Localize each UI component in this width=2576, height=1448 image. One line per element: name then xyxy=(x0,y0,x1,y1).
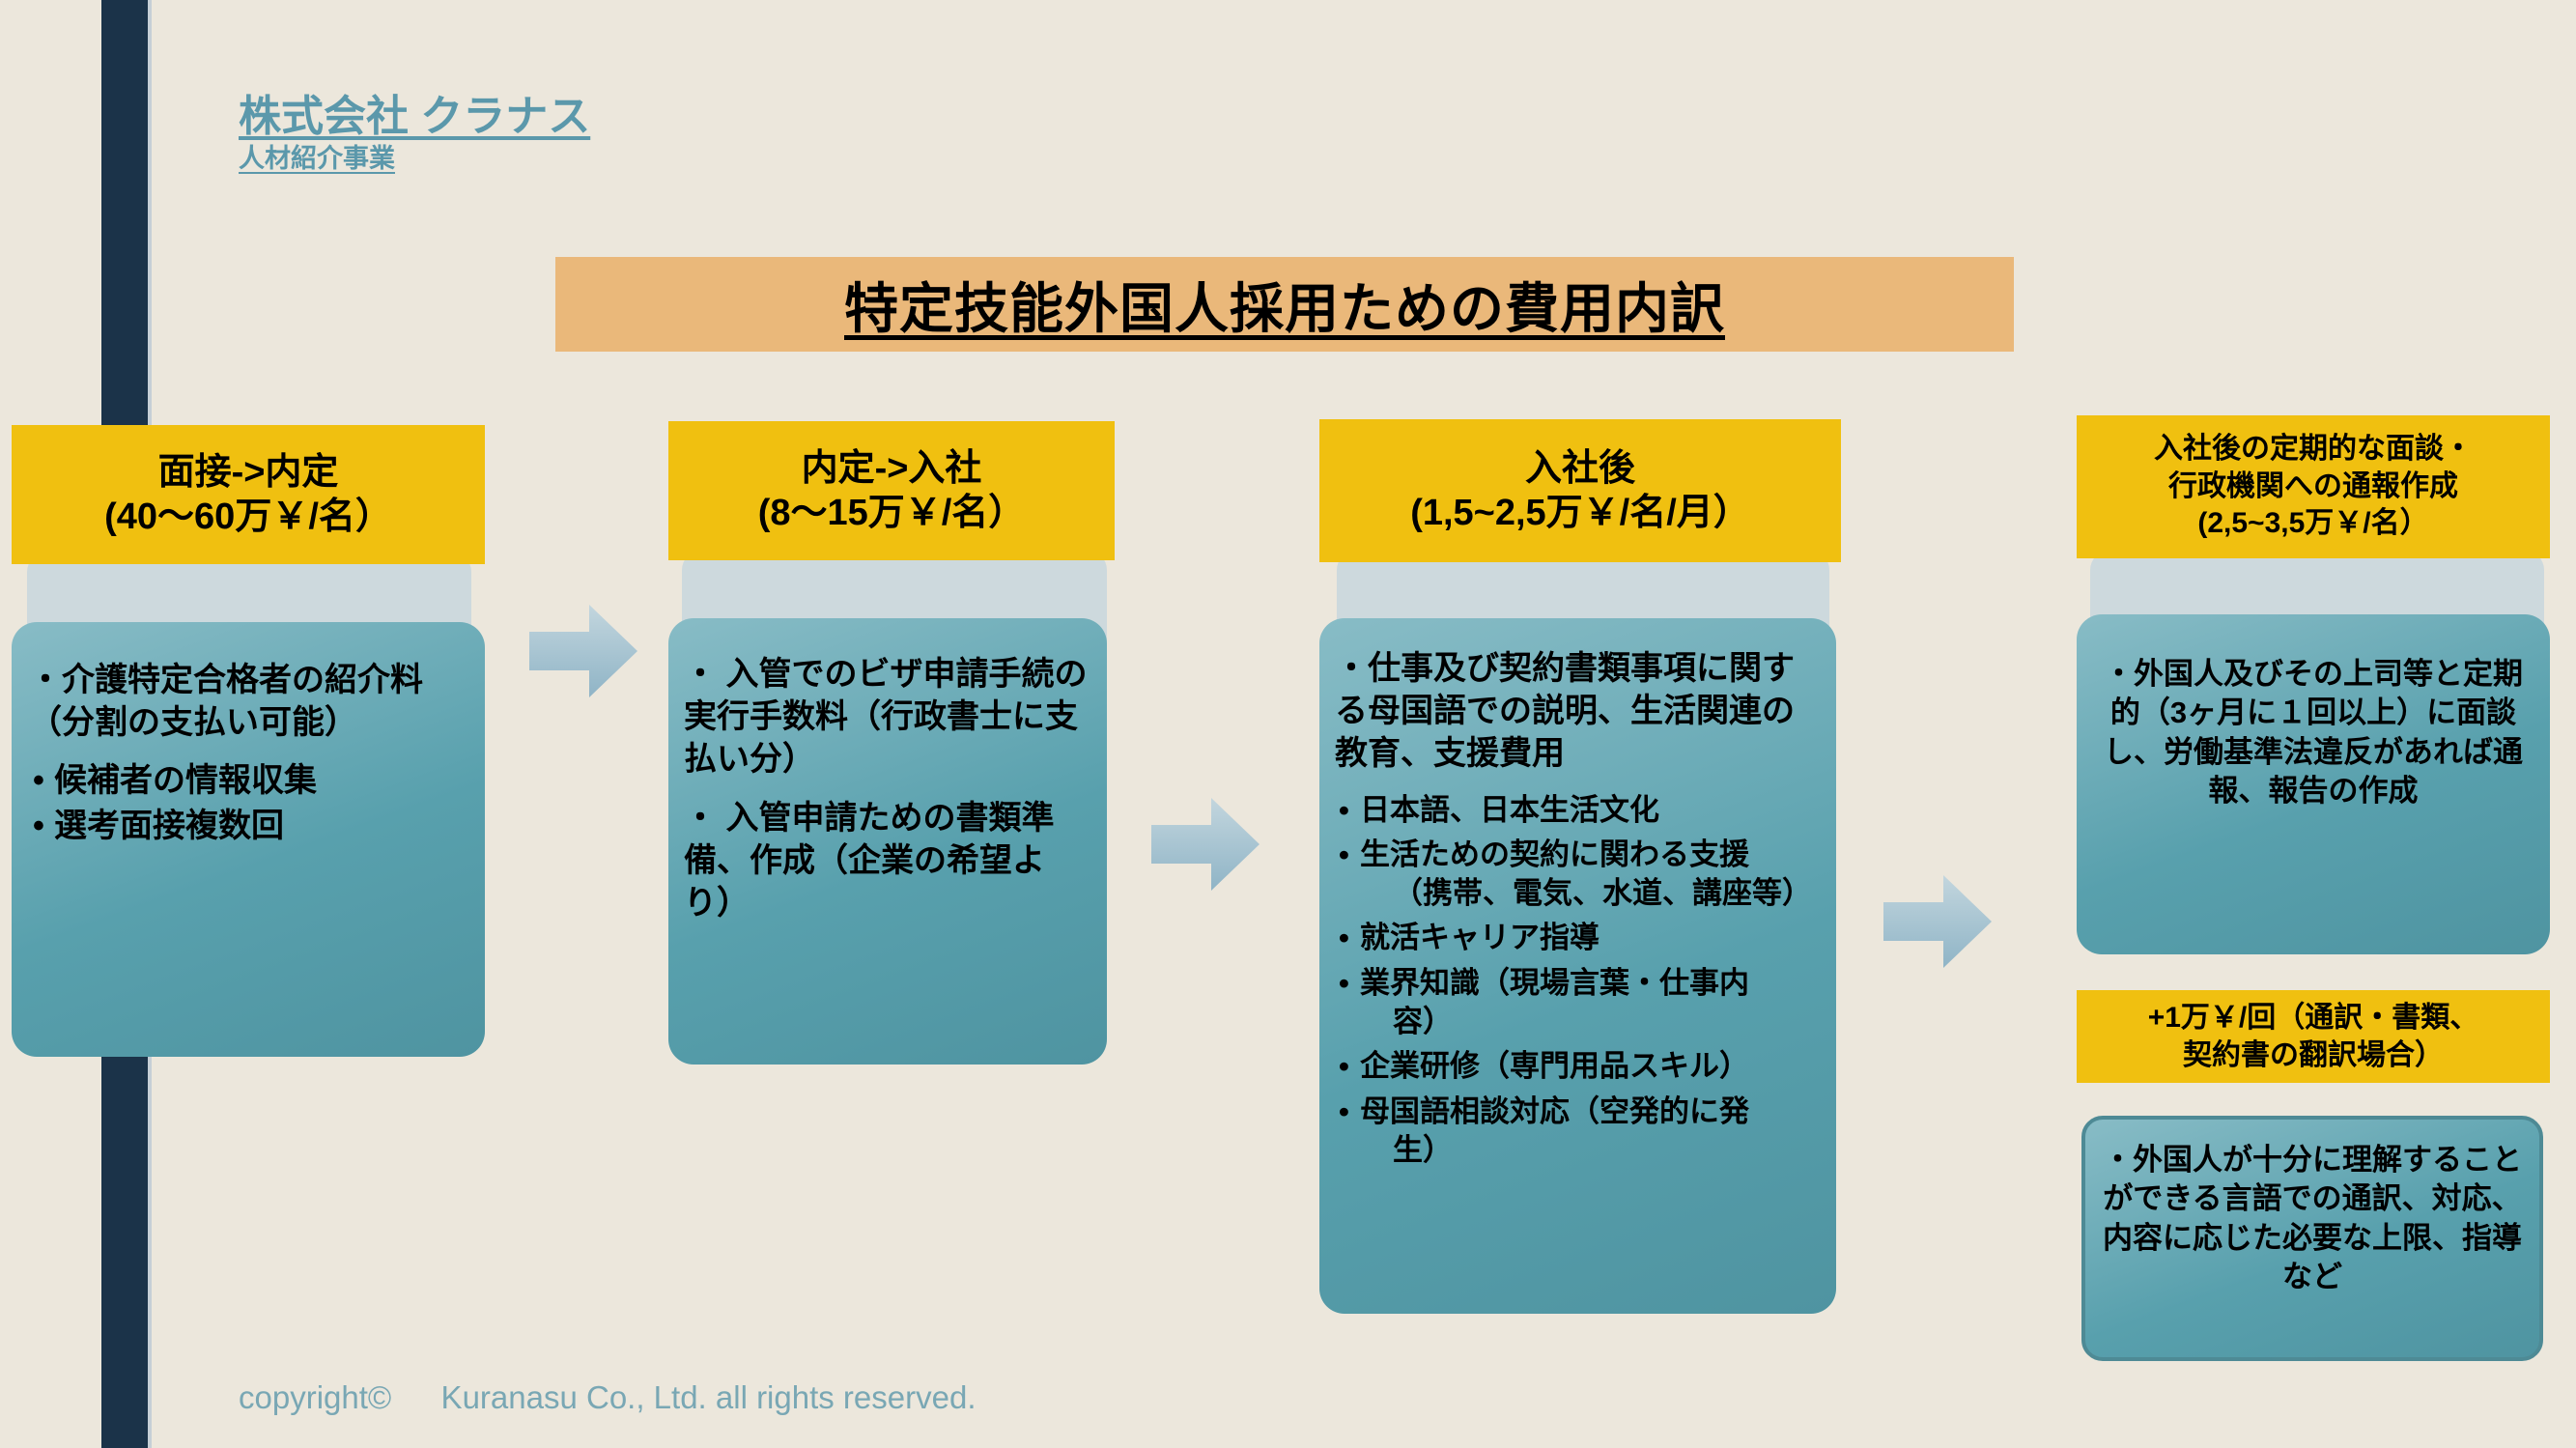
column-1-bullet-list: 候補者の情報収集 選考面接複数回 xyxy=(29,759,467,846)
flow-arrow-icon xyxy=(1883,869,1992,974)
column-4-header: 入社後の定期的な面談・ 行政機関への通報作成 (2,5~3,5万￥/名） xyxy=(2077,415,2550,558)
column-1-header: 面接->内定 (40〜60万￥/名） xyxy=(12,425,485,564)
column-2-paragraph-1: ・ 入管でのビザ申請手続の実行手数料（行政書士に支払い分） xyxy=(684,653,1091,781)
column-3-lead-text: ・仕事及び契約書類事項に関する母国語での説明、生活関連の教育、支援費用 xyxy=(1335,647,1821,776)
list-item: 生活ための契約に関わる支援 （携帯、電気、水道、講座等） xyxy=(1335,836,1821,914)
company-tagline: 人材紹介事業 xyxy=(239,143,590,174)
column-1-header-line1: 面接->内定 xyxy=(158,450,339,495)
column-4-body-text: ・外国人及びその上司等と定期的（3ヶ月に１回以上）に面談し、労働基準法違反があれ… xyxy=(2092,655,2534,810)
flow-arrow-icon xyxy=(1151,792,1260,896)
column-2-header: 内定->入社 (8〜15万￥/名） xyxy=(668,421,1115,560)
column-4-secondary-body-text: ・外国人が十分に理解することができる言語での通訳、対応、内容に応じた必要な上限、… xyxy=(2103,1141,2522,1296)
column-4-header-line1: 入社後の定期的な面談・ xyxy=(2154,431,2473,468)
column-4-secondary-body: ・外国人が十分に理解することができる言語での通訳、対応、内容に応じた必要な上限、… xyxy=(2081,1116,2543,1361)
list-item-main: 業界知識（現場言葉・仕事内 xyxy=(1360,966,1749,1000)
column-4-header-line2: 行政機関への通報作成 xyxy=(2168,468,2458,505)
column-3-header: 入社後 (1,5~2,5万￥/名/月） xyxy=(1319,419,1841,562)
title-band: 特定技能外国人採用ための費用内訳 xyxy=(555,257,2014,352)
list-item: 選考面接複数回 xyxy=(29,805,467,847)
column-3-bullet-list: 日本語、日本生活文化 生活ための契約に関わる支援 （携帯、電気、水道、講座等） … xyxy=(1335,791,1821,1171)
list-item-sub: 生） xyxy=(1360,1131,1821,1170)
column-2-body: ・ 入管でのビザ申請手続の実行手数料（行政書士に支払い分） ・ 入管申請ための書… xyxy=(668,618,1107,1065)
list-item-main: 日本語、日本生活文化 xyxy=(1360,793,1659,827)
column-1-lead-text: ・介護特定合格者の紹介料（分割の支払い可能） xyxy=(29,659,467,744)
list-item-main: 就活キャリア指導 xyxy=(1360,921,1599,954)
list-item: 候補者の情報収集 xyxy=(29,759,467,802)
page-title: 特定技能外国人採用ための費用内訳 xyxy=(844,266,1725,344)
column-2-header-line1: 内定->入社 xyxy=(802,446,982,491)
brand-block: 株式会社 クラナス 人材紹介事業 xyxy=(239,93,590,175)
list-item-main: 企業研修（専門用品スキル） xyxy=(1360,1049,1749,1083)
list-item: 日本語、日本生活文化 xyxy=(1335,791,1821,830)
column-2-header-line2: (8〜15万￥/名） xyxy=(758,491,1026,535)
column-1-body: ・介護特定合格者の紹介料（分割の支払い可能） 候補者の情報収集 選考面接複数回 xyxy=(12,622,485,1057)
column-3-header-line1: 入社後 xyxy=(1525,446,1635,491)
list-item: 企業研修（専門用品スキル） xyxy=(1335,1047,1821,1086)
column-4-secondary-header-line1: +1万￥/回（通訳・書類、 xyxy=(2148,999,2479,1036)
column-4-secondary-header: +1万￥/回（通訳・書類、 契約書の翻訳場合） xyxy=(2077,990,2550,1083)
flow-arrow-icon xyxy=(529,599,637,703)
column-4-header-line3: (2,5~3,5万￥/名） xyxy=(2197,505,2428,542)
list-item: 母国語相談対応（空発的に発 生） xyxy=(1335,1093,1821,1171)
column-1-header-line2: (40〜60万￥/名） xyxy=(104,495,392,539)
list-item: 就活キャリア指導 xyxy=(1335,919,1821,957)
list-item-main: 母国語相談対応（空発的に発 xyxy=(1360,1094,1749,1128)
list-item: 業界知識（現場言葉・仕事内 容） xyxy=(1335,964,1821,1042)
list-item-main: 生活ための契約に関わる支援 xyxy=(1360,838,1749,871)
company-name: 株式会社 クラナス xyxy=(239,93,590,140)
column-4-body: ・外国人及びその上司等と定期的（3ヶ月に１回以上）に面談し、労働基準法違反があれ… xyxy=(2077,614,2550,954)
column-2-paragraph-2: ・ 入管申請ための書類準備、作成（企業の希望より） xyxy=(684,797,1091,925)
column-3-header-line2: (1,5~2,5万￥/名/月） xyxy=(1410,491,1750,535)
column-3-body: ・仕事及び契約書類事項に関する母国語での説明、生活関連の教育、支援費用 日本語、… xyxy=(1319,618,1836,1314)
list-item-sub: 容） xyxy=(1360,1003,1821,1041)
column-4-secondary-header-line2: 契約書の翻訳場合） xyxy=(2183,1036,2444,1074)
copyright-footer: copyright© Kuranasu Co., Ltd. all rights… xyxy=(239,1372,977,1418)
list-item-sub: （携帯、電気、水道、講座等） xyxy=(1360,874,1821,913)
